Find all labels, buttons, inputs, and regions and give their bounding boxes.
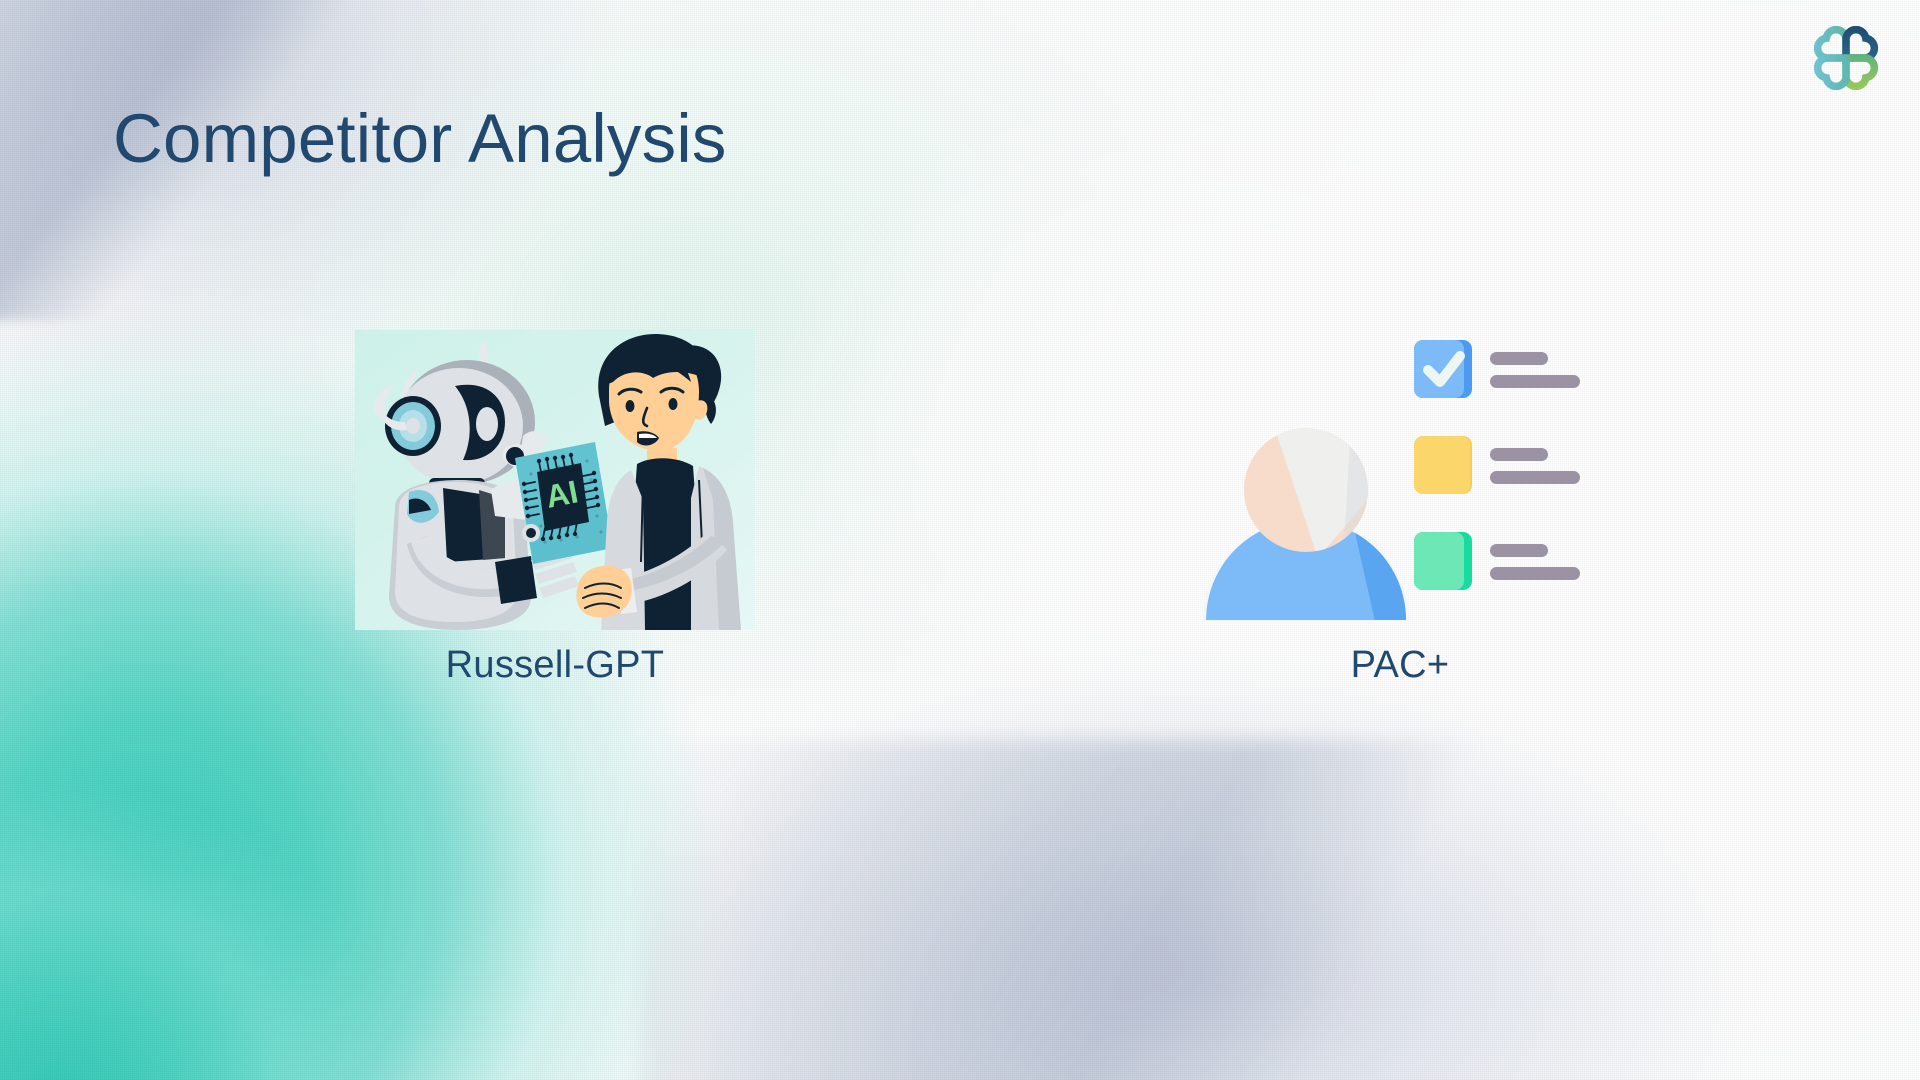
interlocking-knot-icon xyxy=(1814,26,1878,90)
checklist-row-3 xyxy=(1414,532,1580,590)
competitor-card-pac-plus[interactable]: PAC+ xyxy=(1190,330,1610,687)
competitor-label-russell-gpt: Russell-GPT xyxy=(446,644,665,687)
brand-logo[interactable] xyxy=(1814,26,1878,90)
checklist-row-1 xyxy=(1414,340,1580,398)
page-title: Competitor Analysis xyxy=(113,102,727,175)
user-profile-checklist-illustration xyxy=(1200,330,1600,630)
avatar-shape xyxy=(1202,418,1414,626)
competitor-card-russell-gpt[interactable]: AI xyxy=(355,330,755,687)
checklist-row-2 xyxy=(1414,436,1580,494)
checklist-group xyxy=(1414,340,1580,590)
competitor-label-pac-plus: PAC+ xyxy=(1351,644,1450,687)
svg-text:AI: AI xyxy=(543,473,581,514)
slide-canvas: Competitor Analysis xyxy=(0,0,1920,1080)
robot-handing-ai-chip-illustration: AI xyxy=(355,330,755,630)
